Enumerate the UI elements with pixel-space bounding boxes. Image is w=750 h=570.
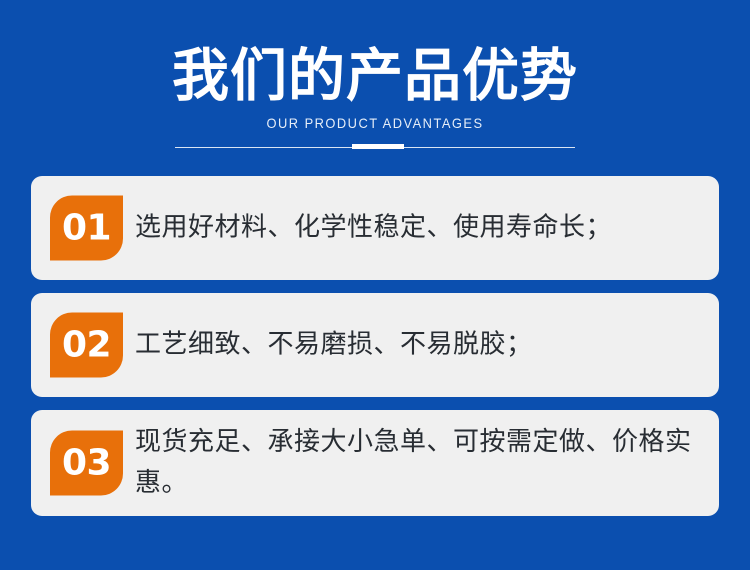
advantage-card-inner: 01 选用好材料、化学性稳定、使用寿命长；	[31, 176, 719, 280]
advantage-number-badge: 01	[50, 196, 123, 261]
banner-header: 我们的产品优势 OUR PRODUCT ADVANTAGES	[0, 0, 750, 170]
advantage-number-badge: 02	[50, 313, 123, 378]
advantage-number-badge: 03	[50, 431, 123, 496]
advantage-card-inner: 02 工艺细致、不易磨损、不易脱胶；	[31, 293, 719, 397]
advantage-card: 02 工艺细致、不易磨损、不易脱胶；	[31, 293, 719, 397]
page-subtitle: OUR PRODUCT ADVANTAGES	[30, 115, 720, 132]
advantage-card-inner: 03 现货充足、承接大小急单、可按需定做、价格实惠。	[31, 410, 719, 516]
divider-accent-segment	[352, 144, 404, 149]
advantage-card: 03 现货充足、承接大小急单、可按需定做、价格实惠。	[31, 410, 719, 516]
advantage-text: 现货充足、承接大小急单、可按需定做、价格实惠。	[135, 422, 697, 504]
advantage-text: 选用好材料、化学性稳定、使用寿命长；	[135, 208, 697, 249]
advantage-text: 工艺细致、不易磨损、不易脱胶；	[135, 325, 697, 366]
product-advantages-banner: 我们的产品优势 OUR PRODUCT ADVANTAGES 01 选用好材料、…	[0, 0, 750, 570]
advantage-card: 01 选用好材料、化学性稳定、使用寿命长；	[31, 176, 719, 280]
page-title: 我们的产品优势	[0, 44, 750, 108]
